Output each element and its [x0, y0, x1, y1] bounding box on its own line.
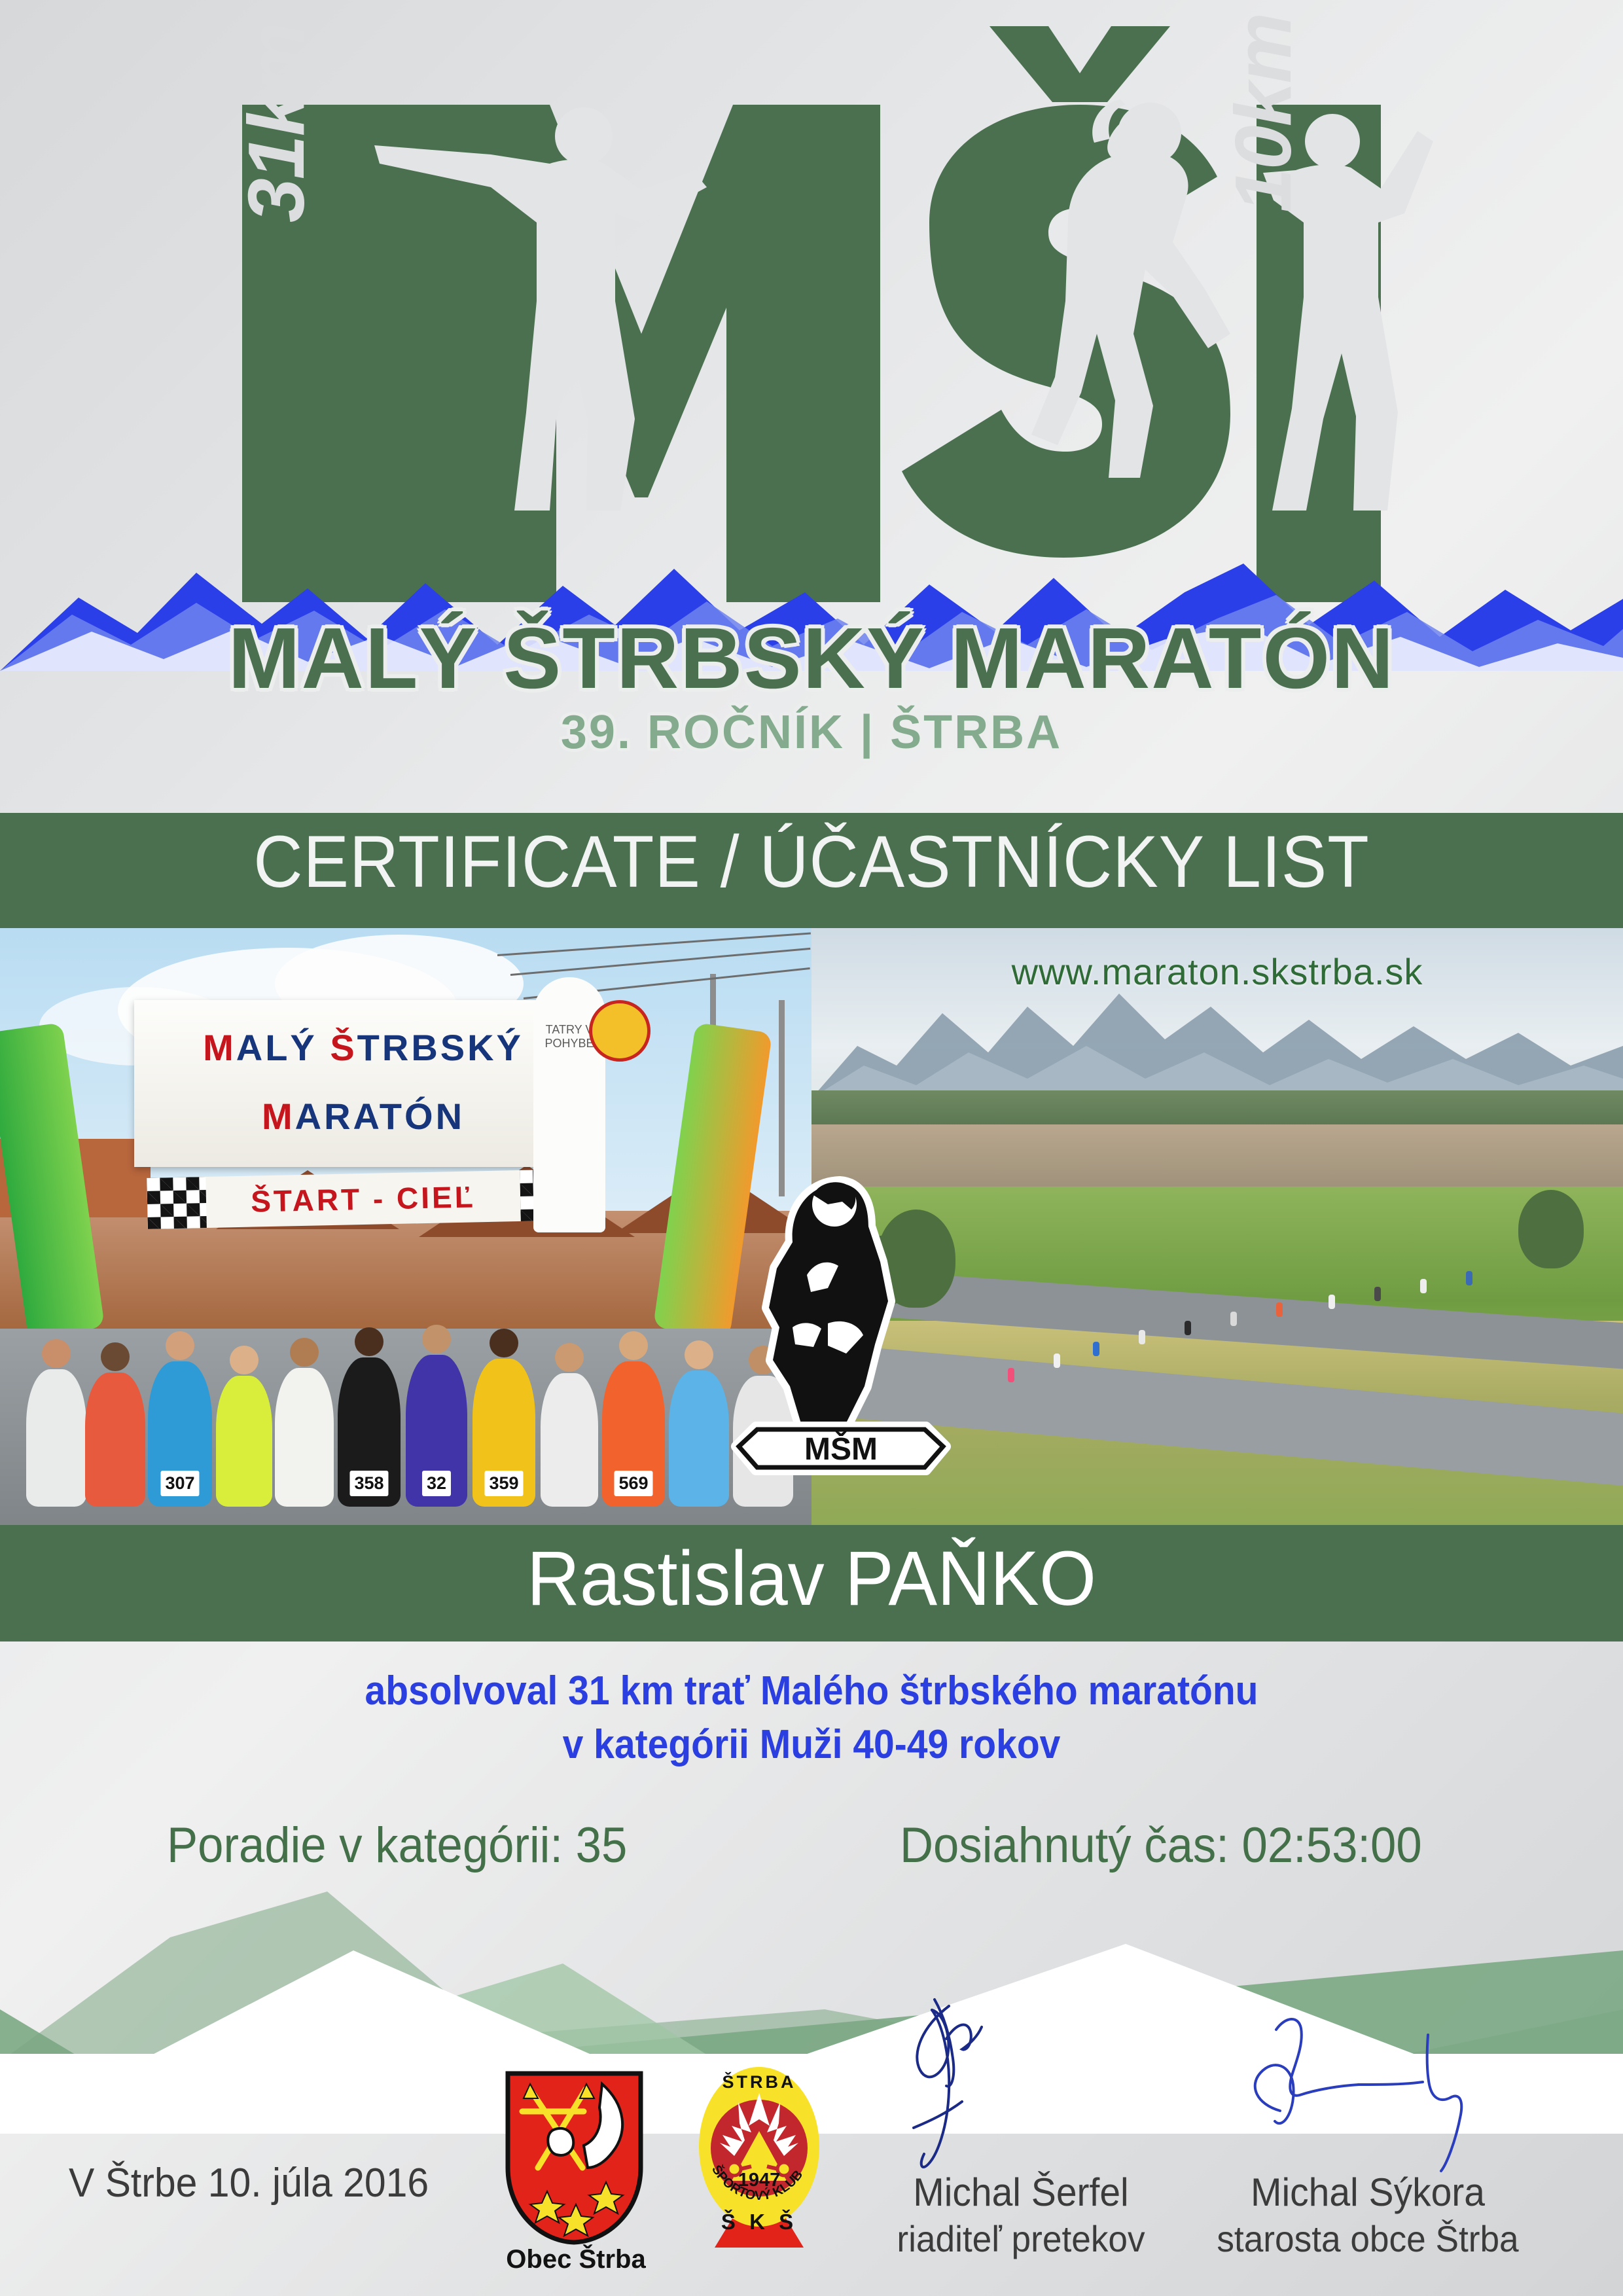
runner-head: [166, 1331, 194, 1360]
runner-dot: [1466, 1271, 1472, 1285]
runner-figure: 307: [148, 1361, 212, 1507]
signature-block-director: Michal Šerfel riaditeľ pretekov: [851, 2049, 1191, 2296]
msm-runner-sticker-icon: MŠM: [730, 1164, 952, 1491]
runner-head: [422, 1325, 451, 1354]
signature-mayor-icon: [1198, 1993, 1538, 2176]
flag-caption: TATRY V POHYBE: [543, 1023, 596, 1147]
website-url: www.maraton.skstrba.sk: [811, 950, 1623, 993]
checker-pattern-left: [147, 1177, 207, 1229]
runner-head: [101, 1342, 130, 1371]
crest-caption: Obec Štrba: [497, 2245, 654, 2274]
runner-head: [42, 1339, 71, 1368]
runner-bib: 358: [349, 1471, 388, 1496]
photo-strip: MALÝ ŠTRBSKÝ MARATÓN ŠTART - CIEĽ TATRY …: [0, 928, 1623, 1525]
arch-m1: M: [203, 1027, 236, 1068]
runner-dot: [1093, 1342, 1099, 1356]
runner-bib: 307: [160, 1471, 199, 1496]
arch-s: Š: [330, 1027, 357, 1068]
runner-head: [230, 1346, 259, 1374]
arch-text-line1: MALÝ ŠTRBSKÝ: [134, 1026, 592, 1069]
runner-head: [490, 1329, 518, 1357]
runner-head: [290, 1338, 319, 1367]
sks-top-text: ŠTRBA: [722, 2072, 796, 2092]
signature-name: Michal Sýkora: [1206, 2170, 1529, 2215]
runner-figure: [669, 1371, 729, 1507]
arch-text-line2: MARATÓN: [134, 1095, 592, 1138]
runner-bib: 32: [422, 1471, 451, 1496]
runner-head: [685, 1340, 713, 1369]
runner-dot: [1185, 1321, 1191, 1335]
runner-head: [555, 1343, 584, 1372]
runner-figure: 32: [406, 1355, 467, 1507]
certificate-title-band: CERTIFICATE / ÚČASTNÍCKY LIST: [0, 813, 1623, 928]
runner-dot: [1374, 1287, 1381, 1301]
signature-role: starosta obce Štrba: [1206, 2217, 1529, 2260]
runner-dot: [1008, 1368, 1014, 1382]
sks-club-logo-icon: 1947 ŠTRBA Š K Š ŠPORTOVÝ KLUB: [694, 2063, 825, 2253]
runner-dot: [1054, 1354, 1060, 1368]
arch-araton: ARATÓN: [295, 1096, 465, 1137]
runner-head: [355, 1327, 383, 1356]
event-subtitle: 39. ROČNÍK | ŠTRBA: [0, 706, 1623, 759]
runner-figure: [216, 1376, 272, 1507]
signature-director-icon: [851, 1993, 1191, 2176]
runner-figure: 359: [473, 1359, 535, 1507]
runner-dot: [1276, 1302, 1283, 1317]
certificate-page: 31km 10km MALÝ ŠTRBSKÝ MARATÓN 39. ROČNÍ…: [0, 0, 1623, 2296]
runner-dot: [1230, 1312, 1237, 1326]
distance-10km-label: 10km: [1217, 14, 1309, 213]
certificate-title: CERTIFICATE / ÚČASTNÍCKY LIST: [57, 819, 1566, 904]
participant-name-band: Rastislav PAŇKO: [0, 1525, 1623, 1641]
certificate-footer: V Štrbe 10. júla 2016 Obec Štrba: [0, 2049, 1623, 2296]
sticker-msm-text: MŠM: [804, 1431, 878, 1467]
runner-figure: 358: [338, 1357, 401, 1507]
finish-time: Dosiahnutý čas: 02:53:00: [900, 1817, 1422, 1874]
runner-figure: 569: [602, 1361, 665, 1507]
runner-dot: [1139, 1330, 1145, 1344]
tree-shape: [1518, 1190, 1584, 1268]
start-finish-banner: ŠTART - CIEĽ: [147, 1169, 579, 1229]
msm-logo: 31km 10km: [0, 26, 1623, 615]
runner-head: [619, 1331, 648, 1360]
header-logo-area: 31km 10km MALÝ ŠTRBSKÝ MARATÓN 39. ROČNÍ…: [0, 0, 1623, 813]
runner-bib: 359: [484, 1471, 523, 1496]
description-line-1: absolvoval 31 km trať Malého štrbského m…: [65, 1668, 1558, 1714]
arch-banner: MALÝ ŠTRBSKÝ MARATÓN: [134, 1000, 592, 1167]
sponsor-badge-icon: [589, 1000, 651, 1062]
runner-figure: [541, 1373, 598, 1507]
signature-block-mayor: Michal Sýkora starosta obce Štrba: [1198, 2049, 1538, 2296]
distance-31km-label: 31km: [230, 24, 322, 223]
start-finish-text: ŠTART - CIEĽ: [251, 1179, 476, 1219]
description-line-2: v kategórii Muži 40-49 rokov: [65, 1721, 1558, 1768]
category-rank: Poradie v kategórii: 35: [167, 1817, 627, 1874]
runner-bib: 569: [614, 1471, 652, 1496]
event-title: MALÝ ŠTRBSKÝ MARATÓN: [0, 609, 1623, 708]
participant-name: Rastislav PAŇKO: [41, 1534, 1582, 1623]
sks-bottom-text: Š K Š: [721, 2209, 797, 2234]
runner-dot: [1329, 1295, 1335, 1309]
obec-strba-crest-icon: [504, 2070, 645, 2246]
runner-dot: [1420, 1279, 1427, 1293]
issue-date: V Štrbe 10. júla 2016: [69, 2160, 429, 2206]
runner-figure: [275, 1368, 334, 1507]
photo-start-line: MALÝ ŠTRBSKÝ MARATÓN ŠTART - CIEĽ TATRY …: [0, 928, 811, 1525]
runner-figure: [85, 1372, 145, 1507]
signature-role: riaditeľ pretekov: [859, 2217, 1183, 2260]
arch-trbsky: TRBSKÝ: [357, 1027, 524, 1068]
signature-name: Michal Šerfel: [859, 2170, 1183, 2215]
arch-m2: M: [262, 1096, 295, 1137]
arch-aly: ALÝ: [236, 1027, 330, 1068]
runner-figure: [26, 1369, 86, 1507]
